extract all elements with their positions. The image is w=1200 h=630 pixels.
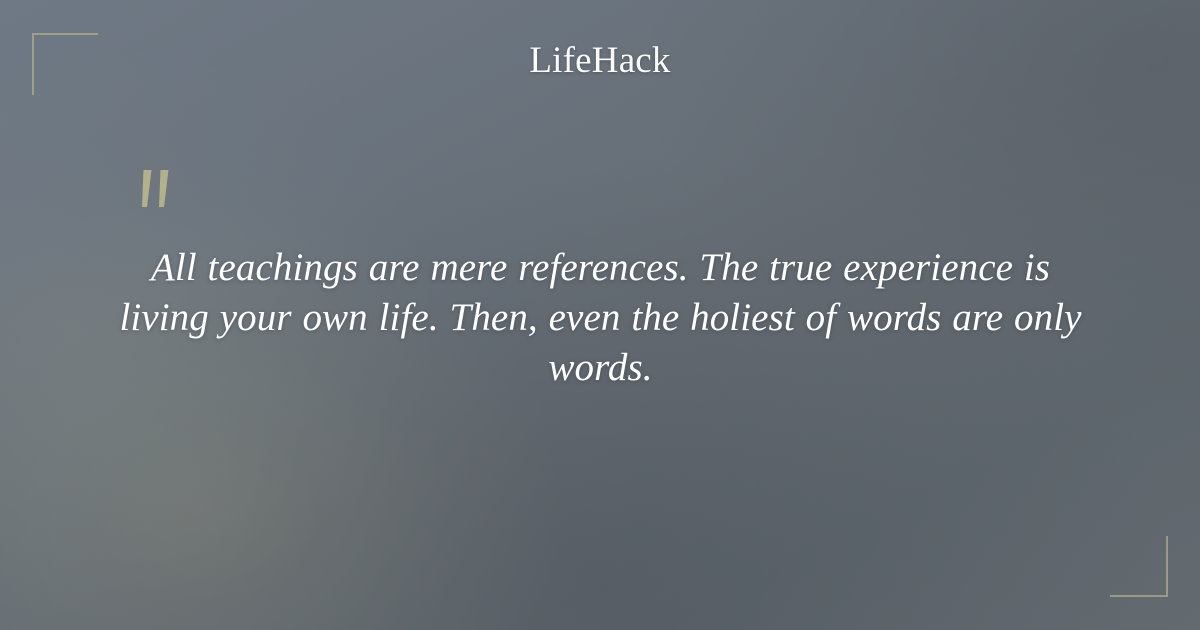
brand-logo: LifeHack — [0, 39, 1200, 83]
quote-text: All teachings are mere references. The t… — [108, 243, 1093, 393]
quotation-mark-icon — [133, 168, 187, 226]
quote-container: All teachings are mere references. The t… — [108, 243, 1093, 393]
quote-card: LifeHack All teachings are mere referenc… — [0, 0, 1200, 630]
corner-bracket-bottom-right-icon — [1110, 536, 1168, 597]
